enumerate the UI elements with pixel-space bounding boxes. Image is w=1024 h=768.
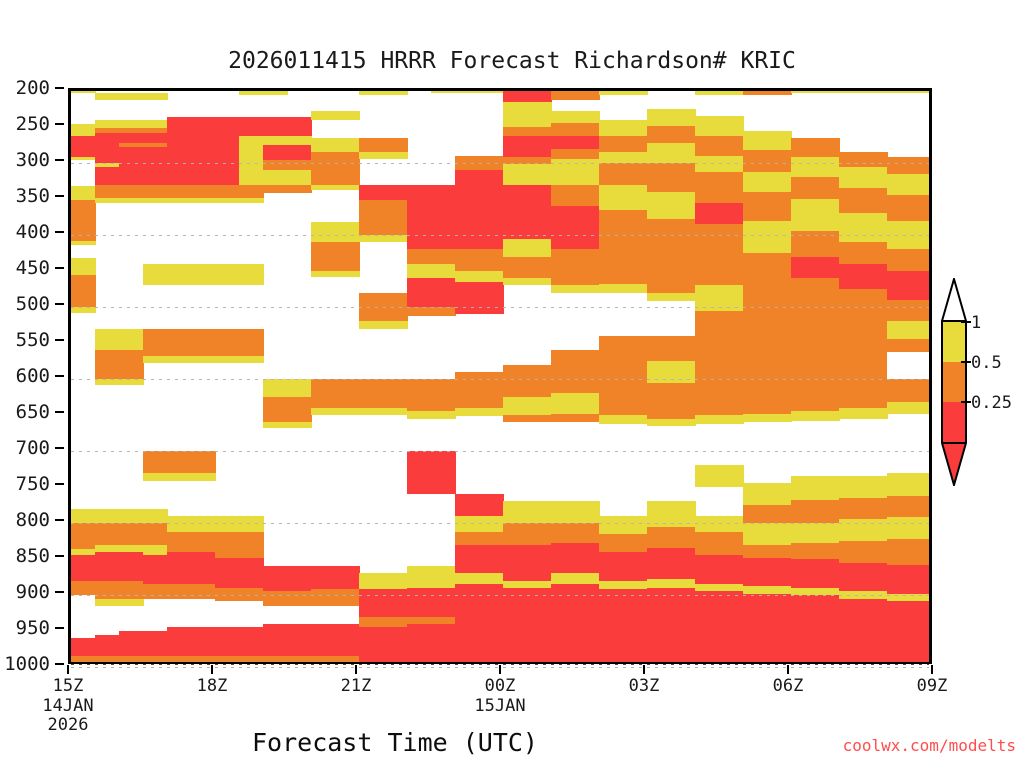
- credit-watermark: coolwx.com/modelts: [843, 736, 1016, 755]
- gridline: [71, 163, 929, 164]
- y-axis-tick-mark: [55, 267, 64, 269]
- gridline: [71, 523, 929, 524]
- y-axis-tick-label: 1000: [0, 655, 50, 674]
- y-axis-tick-label: 950: [0, 619, 50, 638]
- gridlines: [71, 91, 929, 662]
- y-axis-tick-mark: [55, 303, 64, 305]
- x-axis-tick-mark: [211, 665, 213, 674]
- colorbar-tick-label: 0.25: [971, 393, 1012, 413]
- x-axis-title: Forecast Time (UTC): [0, 728, 790, 757]
- y-axis-tick-label: 200: [0, 79, 50, 98]
- colorbar-tick-mark: [961, 321, 971, 323]
- x-axis-tick-mark: [355, 665, 357, 674]
- x-axis-tick-mark: [67, 665, 69, 674]
- y-axis-tick-label: 600: [0, 367, 50, 386]
- y-axis-tick-mark: [55, 231, 64, 233]
- colorbar-bottom-arrow: [941, 442, 967, 486]
- y-axis-tick-mark: [55, 483, 64, 485]
- y-axis-tick-label: 900: [0, 583, 50, 602]
- y-axis-tick-label: 650: [0, 403, 50, 422]
- colorbar-tick-label: 1: [971, 313, 981, 333]
- colorbar-tick-mark: [961, 361, 971, 363]
- y-axis-tick-mark: [55, 87, 64, 89]
- y-axis-tick-mark: [55, 195, 64, 197]
- x-axis-tick-label: 21Z: [296, 677, 416, 697]
- y-axis-tick-label: 850: [0, 547, 50, 566]
- y-axis-tick-mark: [55, 411, 64, 413]
- x-axis-tick-mark: [643, 665, 645, 674]
- colorbar-tick-mark: [961, 401, 971, 403]
- y-axis-tick-label: 300: [0, 151, 50, 170]
- y-axis-tick-mark: [55, 339, 64, 341]
- y-axis-tick-label: 450: [0, 259, 50, 278]
- gridline: [71, 595, 929, 596]
- colorbar-band: [941, 362, 967, 402]
- gridline: [71, 307, 929, 308]
- x-axis-tick-label: 00Z 15JAN: [440, 677, 560, 716]
- y-axis-tick-label: 700: [0, 439, 50, 458]
- y-axis-tick-mark: [55, 375, 64, 377]
- y-axis-tick-mark: [55, 159, 64, 161]
- x-axis-tick-label: 09Z: [872, 677, 992, 697]
- x-axis-tick-mark: [787, 665, 789, 674]
- y-axis-tick-mark: [55, 123, 64, 125]
- colorbar-band: [941, 402, 967, 442]
- chart-title: 2026011415 HRRR Forecast Richardson# KRI…: [0, 48, 1024, 74]
- x-axis-tick-label: 03Z: [584, 677, 704, 697]
- y-axis-tick-label: 800: [0, 511, 50, 530]
- x-axis-tick-label: 06Z: [728, 677, 848, 697]
- y-axis-tick-mark: [55, 447, 64, 449]
- y-axis-tick-label: 750: [0, 475, 50, 494]
- y-axis-tick-label: 400: [0, 223, 50, 242]
- y-axis-tick-mark: [55, 555, 64, 557]
- y-axis-tick-mark: [55, 627, 64, 629]
- y-axis-tick-label: 350: [0, 187, 50, 206]
- y-axis-tick-mark: [55, 519, 64, 521]
- x-axis-tick-label: 18Z: [152, 677, 272, 697]
- y-axis-tick-label: 500: [0, 295, 50, 314]
- gridline: [71, 451, 929, 452]
- y-axis-tick-mark: [55, 663, 64, 665]
- gridline: [71, 235, 929, 236]
- heatmap-plot-area: [68, 88, 932, 664]
- gridline: [71, 379, 929, 380]
- y-axis-tick-label: 250: [0, 115, 50, 134]
- x-axis-tick-mark: [931, 665, 933, 674]
- x-axis-tick-label: 15Z 14JAN 2026: [8, 677, 128, 736]
- colorbar-top-arrow: [941, 278, 967, 322]
- colorbar-band: [941, 322, 967, 362]
- colorbar: 10.50.25: [941, 322, 967, 442]
- y-axis-tick-mark: [55, 591, 64, 593]
- x-axis-tick-mark: [499, 665, 501, 674]
- y-axis-tick-label: 550: [0, 331, 50, 350]
- colorbar-tick-label: 0.5: [971, 353, 1002, 373]
